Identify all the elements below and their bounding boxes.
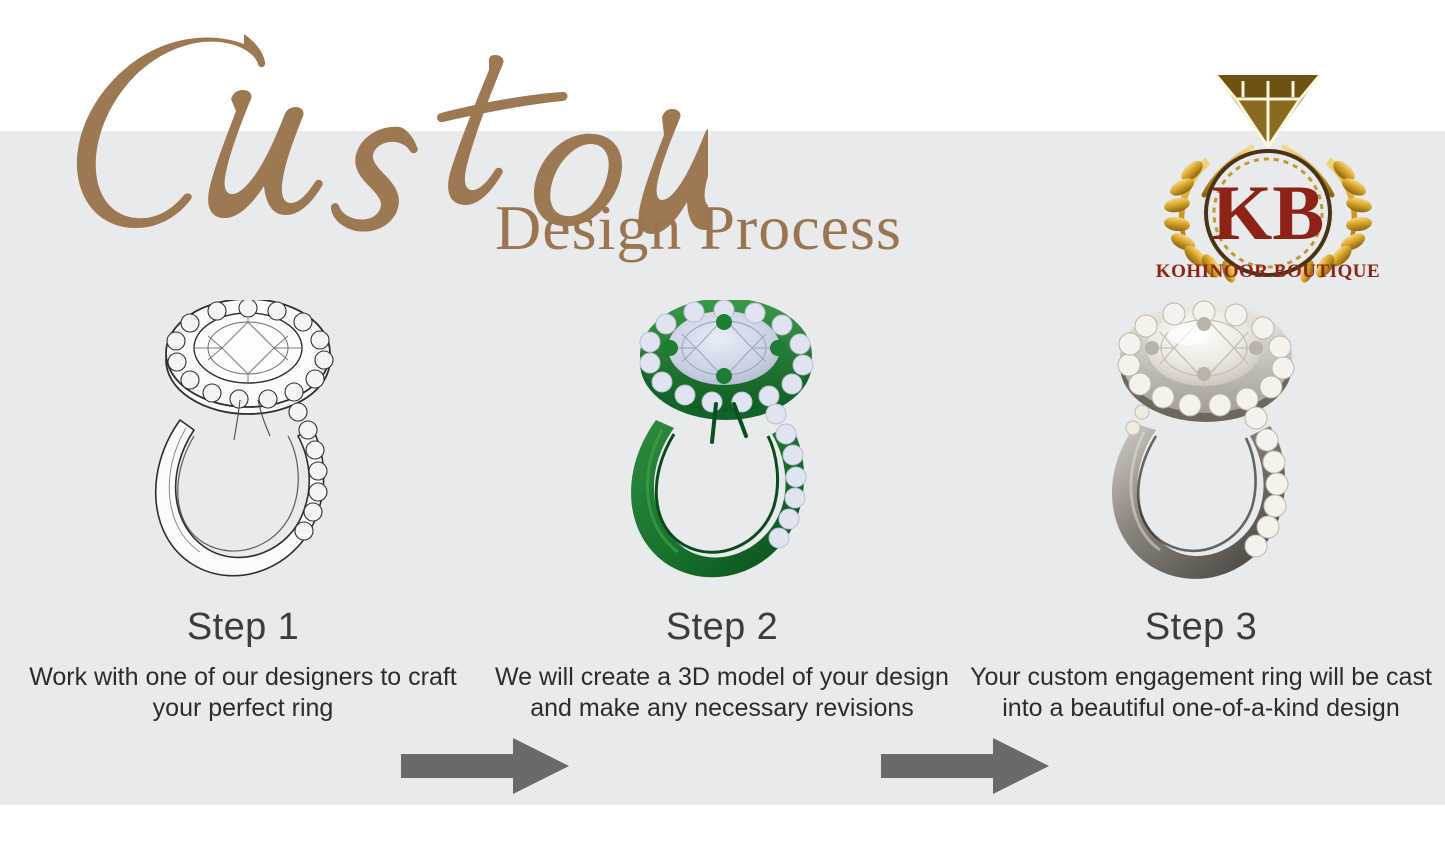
- step-1-description: Work with one of our designers to craft …: [8, 662, 478, 725]
- step-2-caption: Step 2 We will create a 3D model of your…: [487, 608, 957, 725]
- step-2-artwork: [600, 300, 852, 590]
- step-3-description: Your custom engagement ring will be cast…: [966, 662, 1436, 725]
- background-band-bottom: [0, 805, 1445, 849]
- step-1-caption: Step 1 Work with one of our designers to…: [8, 608, 478, 725]
- process-steps-artwork: [0, 300, 1445, 600]
- brand-initials: KB: [1212, 169, 1325, 256]
- step-1-title: Step 1: [8, 608, 478, 646]
- step-2-description: We will create a 3D model of your design…: [487, 662, 957, 725]
- step-3-title: Step 3: [966, 608, 1436, 646]
- step-1-artwork: [122, 300, 374, 590]
- brand-wordmark: KOHINOOR BOUTIQUE: [1148, 261, 1388, 283]
- arrow-step1-to-step2-icon: [395, 732, 575, 800]
- brand-logo: KB KOHINOOR BOUTIQUE: [1148, 55, 1388, 285]
- step-3-artwork: [1080, 300, 1332, 590]
- step-2-title: Step 2: [487, 608, 957, 646]
- arrow-step2-to-step3-icon: [875, 732, 1055, 800]
- page-subtitle: Design Process: [495, 196, 902, 260]
- diamond-icon: [1216, 75, 1320, 147]
- custom-design-process-banner: Design Process: [0, 0, 1445, 849]
- step-3-caption: Step 3 Your custom engagement ring will …: [966, 608, 1436, 725]
